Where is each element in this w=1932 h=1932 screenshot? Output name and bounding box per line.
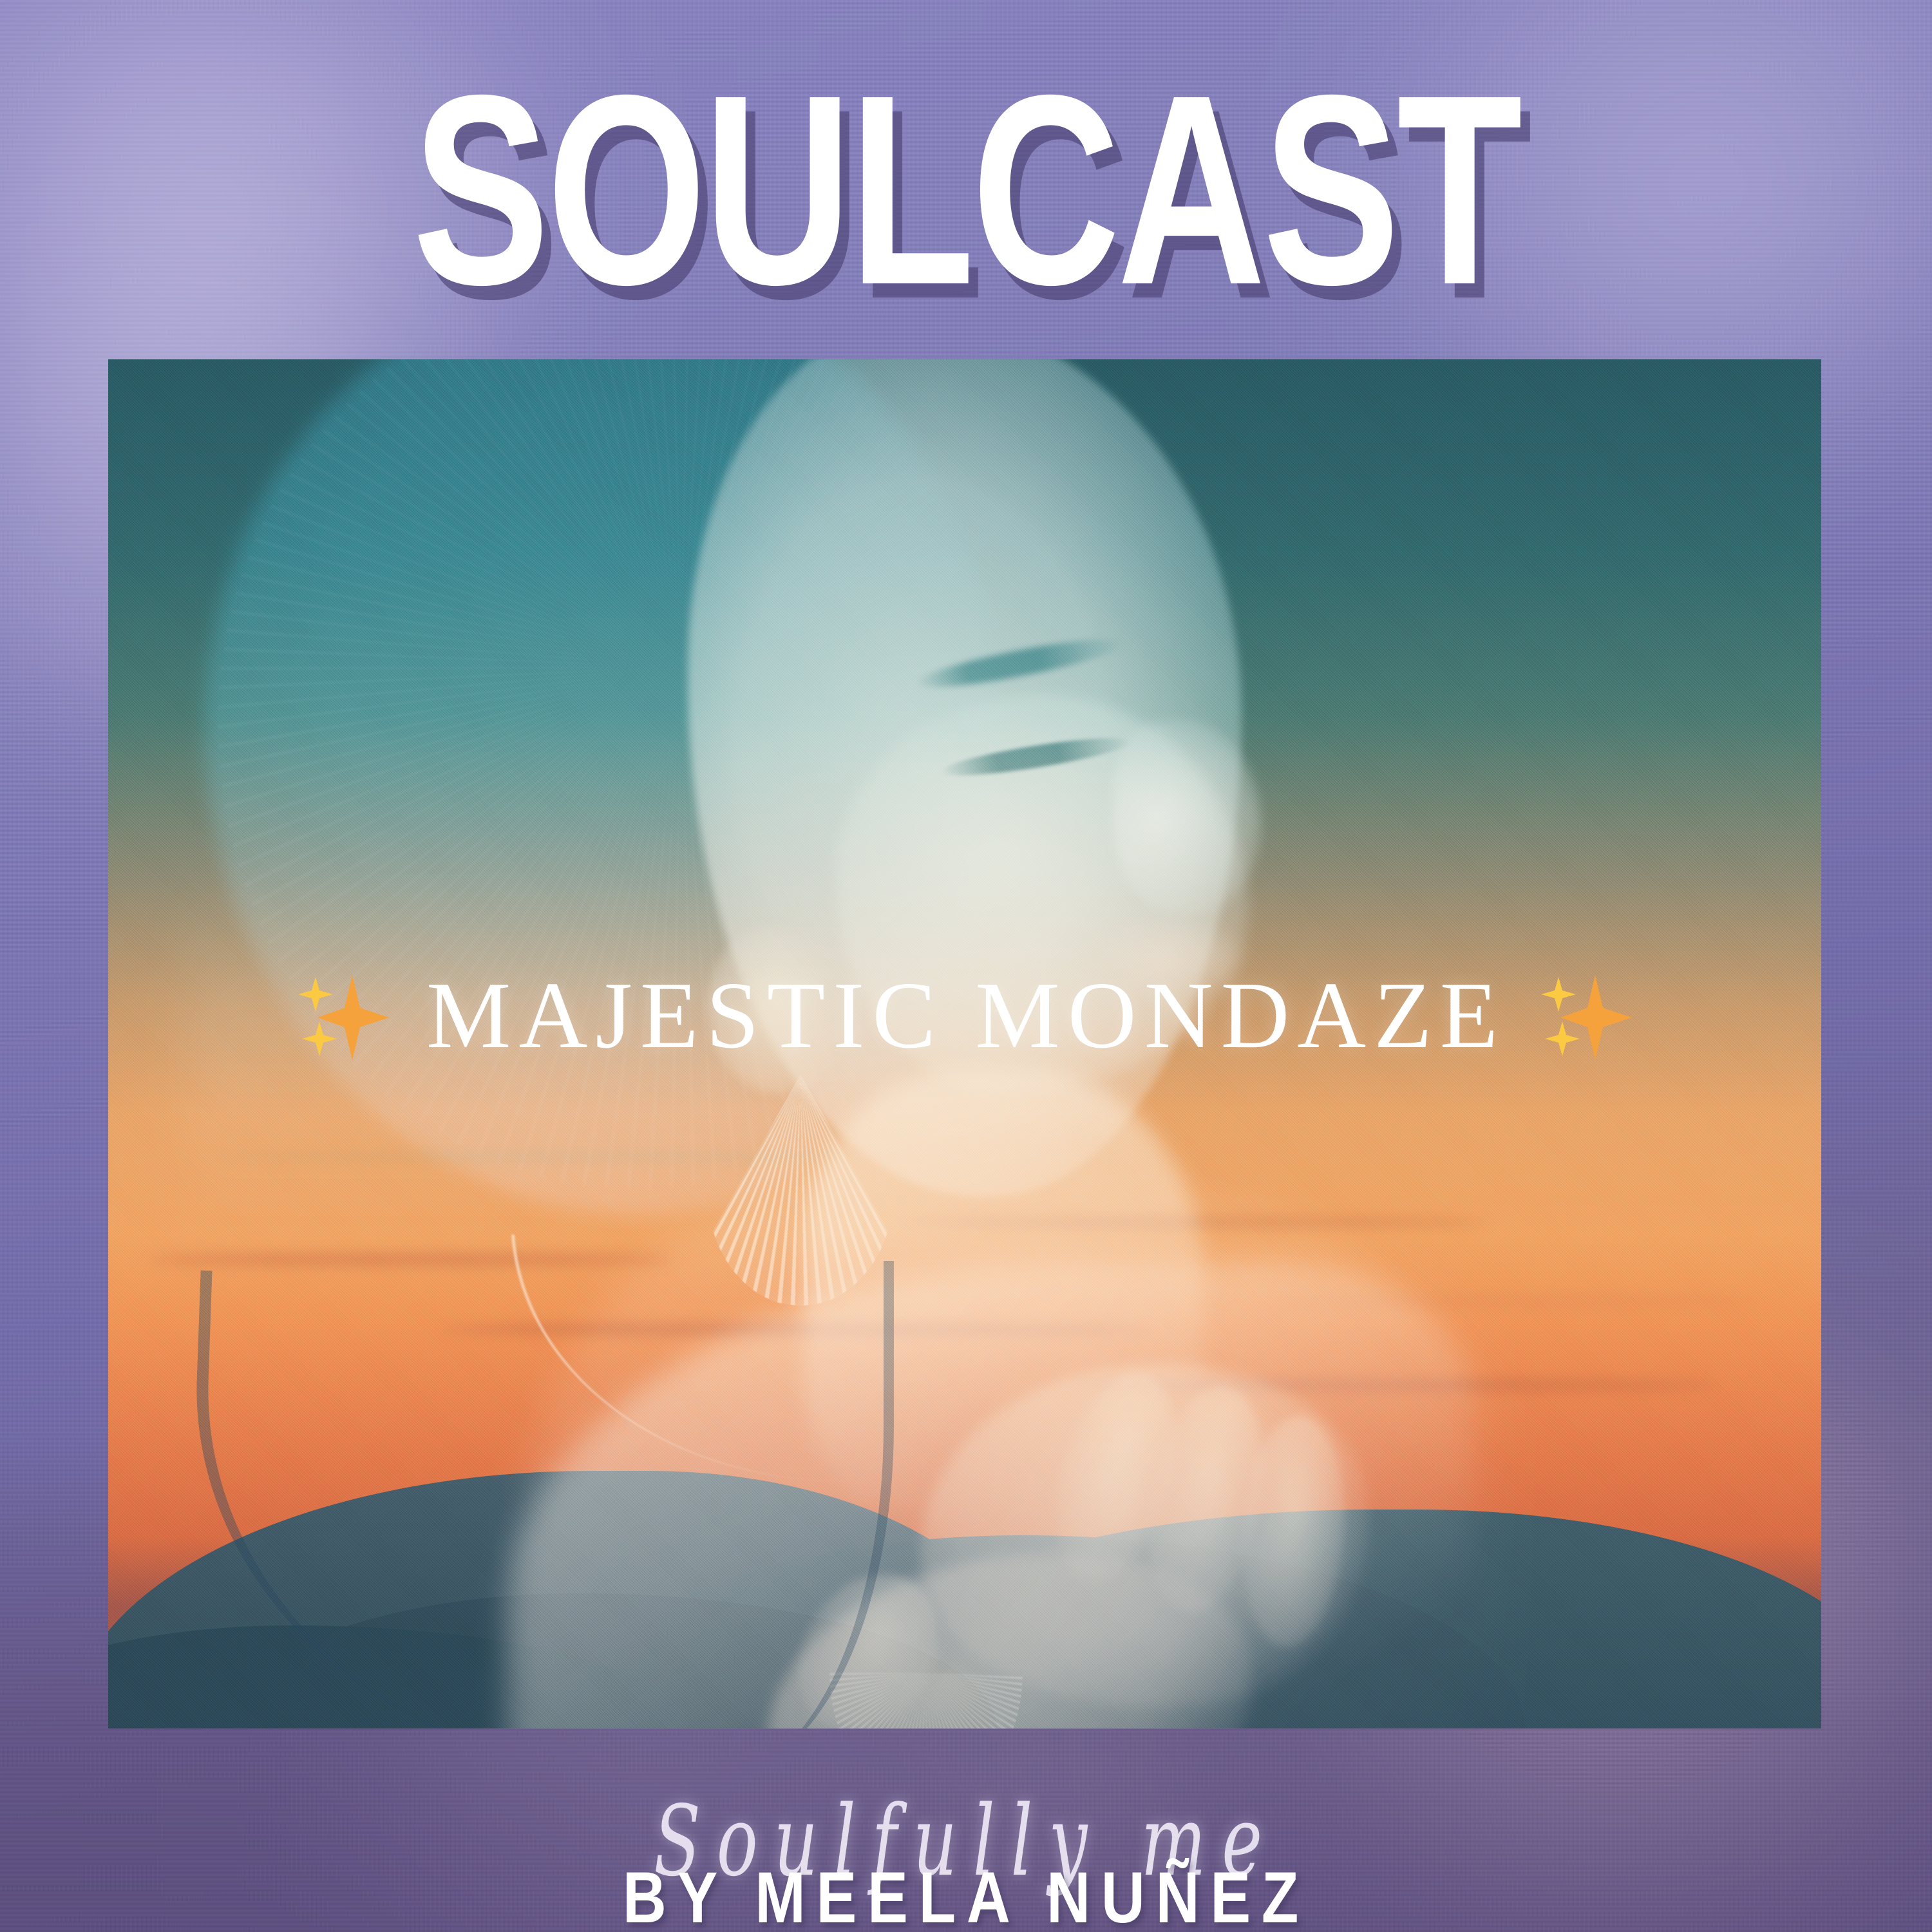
author-byline: BY MEELA NUÑEZ bbox=[155, 1860, 1777, 1932]
page-title: SOULCAST bbox=[232, 62, 1700, 319]
cover-photo bbox=[108, 359, 1821, 1728]
photo-grain-texture bbox=[108, 359, 1821, 1728]
podcast-cover-poster: SOULCAST bbox=[0, 0, 1932, 1932]
